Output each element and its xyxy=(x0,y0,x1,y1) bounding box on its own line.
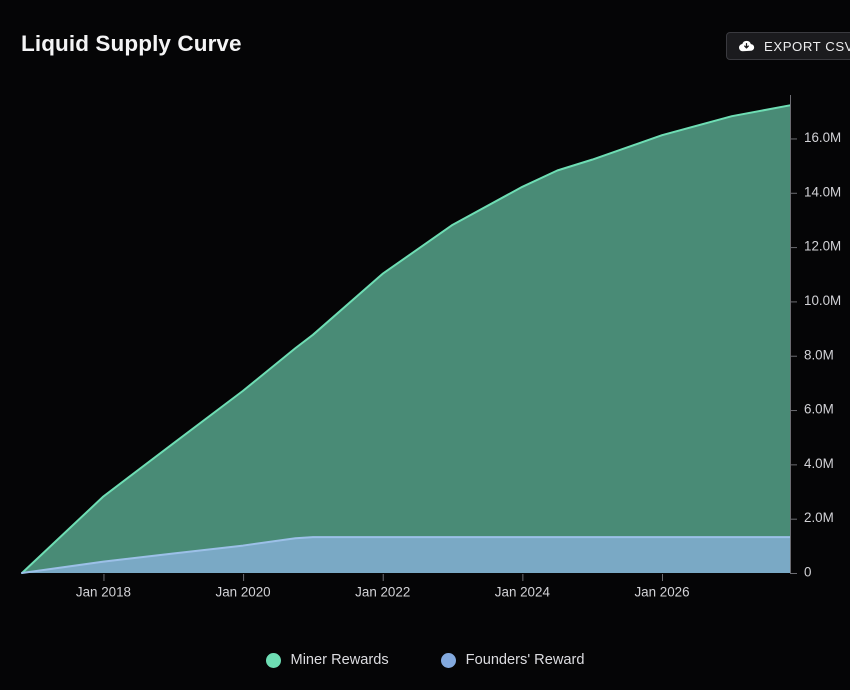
y-axis-tick-label: 10.0M xyxy=(804,293,841,308)
legend-swatch-miner-rewards xyxy=(266,653,281,668)
stacked-area-chart: 02.0M4.0M6.0M8.0M10.0M12.0M14.0M16.0M Ja… xyxy=(0,0,850,690)
y-axis-tick-label: 4.0M xyxy=(804,456,834,471)
y-axis-tick-label: 16.0M xyxy=(804,130,841,145)
chart-legend: Miner Rewards Founders' Reward xyxy=(0,645,850,675)
y-axis-tick-label: 12.0M xyxy=(804,239,841,254)
y-axis: 02.0M4.0M6.0M8.0M10.0M12.0M14.0M16.0M xyxy=(790,95,841,580)
y-axis-tick-label: 8.0M xyxy=(804,347,834,362)
chart-plot-area: 02.0M4.0M6.0M8.0M10.0M12.0M14.0M16.0M Ja… xyxy=(0,0,850,690)
legend-item-founders-reward[interactable]: Founders' Reward xyxy=(441,652,585,668)
x-axis: Jan 2018Jan 2020Jan 2022Jan 2024Jan 2026 xyxy=(76,574,690,600)
area-miner-rewards xyxy=(22,105,790,573)
x-axis-tick-label: Jan 2018 xyxy=(76,585,131,600)
x-axis-tick-label: Jan 2022 xyxy=(355,585,410,600)
y-axis-tick-label: 2.0M xyxy=(804,510,834,525)
y-axis-tick-label: 6.0M xyxy=(804,402,834,417)
liquid-supply-chart-panel: Liquid Supply Curve EXPORT CSV xyxy=(0,0,850,690)
series-areas xyxy=(22,105,790,573)
y-axis-tick-label: 0 xyxy=(804,565,811,580)
y-axis-tick-label: 14.0M xyxy=(804,184,841,199)
x-axis-tick-label: Jan 2020 xyxy=(216,585,271,600)
x-axis-tick-label: Jan 2026 xyxy=(634,585,689,600)
legend-label-founders-reward: Founders' Reward xyxy=(466,652,585,668)
x-axis-tick-label: Jan 2024 xyxy=(495,585,551,600)
legend-item-miner-rewards[interactable]: Miner Rewards xyxy=(266,652,389,668)
legend-label-miner-rewards: Miner Rewards xyxy=(291,652,389,668)
legend-swatch-founders-reward xyxy=(441,653,456,668)
